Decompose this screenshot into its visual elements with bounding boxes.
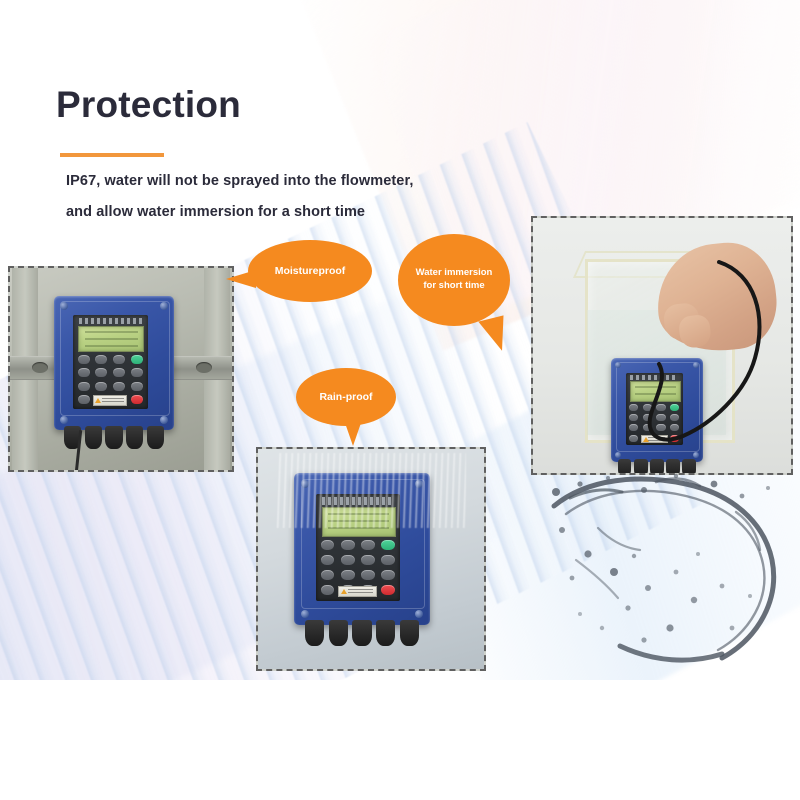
cancel-key	[131, 395, 143, 404]
subtitle-line-1: IP67, water will not be sprayed into the…	[66, 166, 586, 197]
page-subtitle: IP67, water will not be sprayed into the…	[66, 166, 586, 228]
bubble-tail	[344, 420, 362, 446]
enter-key	[131, 355, 143, 364]
flowmeter-device	[54, 296, 174, 430]
slide-canvas: Protection IP67, water will not be spray…	[0, 0, 800, 800]
water-tank-photo	[531, 216, 793, 475]
cancel-key	[381, 585, 395, 595]
callout-rain-proof[interactable]: Rain-proof	[296, 368, 396, 426]
falling-water-streaks	[276, 453, 466, 528]
rain-test-photo	[256, 447, 486, 671]
callout-moistureproof[interactable]: Moistureproof	[248, 240, 372, 302]
device-front-panel	[73, 315, 147, 409]
page-title: Protection	[56, 86, 241, 123]
device-brand-text	[79, 318, 141, 325]
warning-triangle-icon	[341, 589, 347, 594]
wall-mounted-flowmeter-photo	[8, 266, 234, 472]
bottom-white-band	[0, 680, 800, 800]
warning-label-plate	[338, 586, 377, 598]
cable-glands	[305, 620, 419, 646]
callout-label: Moistureproof	[275, 264, 346, 278]
warning-label-plate	[93, 395, 128, 405]
subtitle-line-2: and allow water immersion for a short ti…	[66, 197, 586, 228]
bubble-tail	[478, 315, 511, 354]
hanging-cable	[533, 218, 791, 473]
warning-triangle-icon	[95, 398, 101, 403]
callout-water-immersion[interactable]: Water immersion for short time	[398, 234, 510, 326]
callout-label: Water immersion for short time	[408, 267, 500, 293]
enter-key	[381, 540, 395, 550]
device-lcd-display	[78, 326, 144, 352]
title-underline-rule	[60, 153, 164, 157]
bubble-tail	[226, 270, 256, 288]
callout-label: Rain-proof	[319, 390, 372, 404]
water-splash-graphic	[536, 468, 792, 680]
